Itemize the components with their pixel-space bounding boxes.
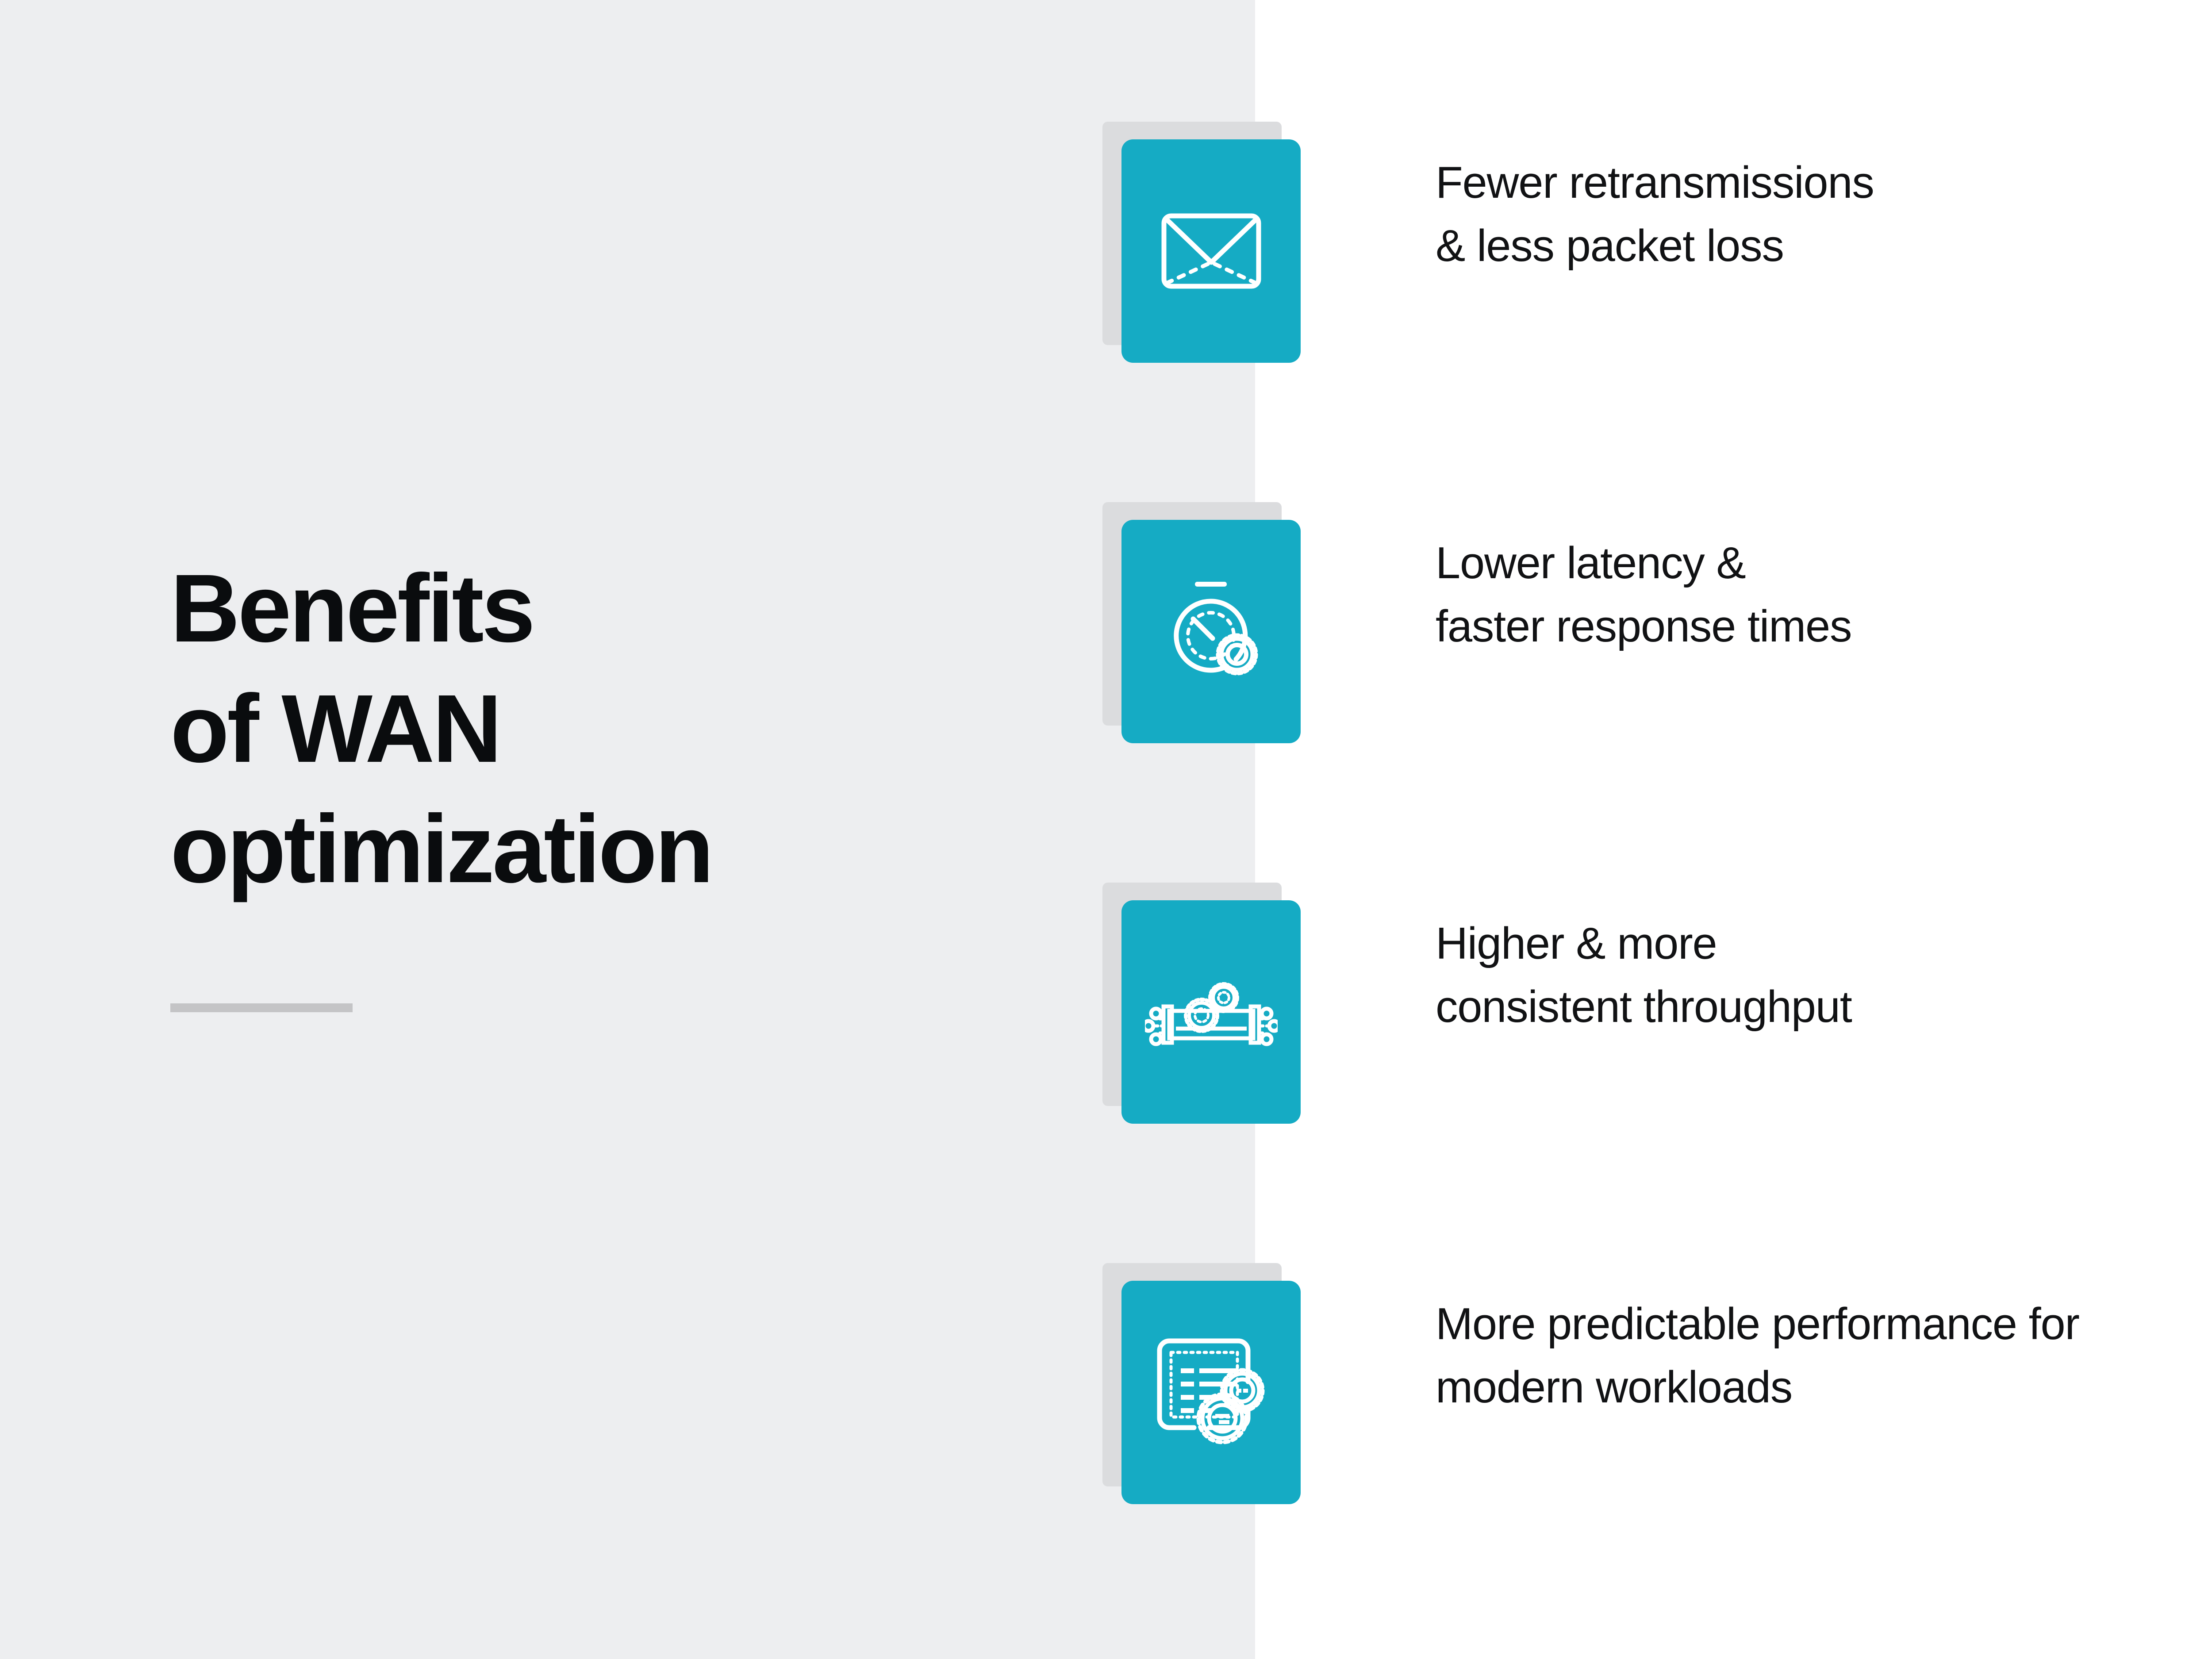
benefit-icon-tile[interactable] (1121, 520, 1301, 743)
benefit-label-line-1: More predictable performance for (1436, 1299, 2079, 1349)
slide-canvas: Benefits of WAN optimization Fewer retra… (0, 0, 2212, 1659)
benefit-label-line-1: Lower latency & (1436, 538, 1746, 588)
benefit-label-line-1: Fewer retransmissions (1436, 158, 1874, 207)
envelope-icon (1160, 212, 1262, 290)
benefit-label: Lower latency & faster response times (1436, 532, 2212, 658)
benefit-label-line-2: faster response times (1436, 595, 2212, 658)
benefit-icon-tile[interactable] (1121, 1281, 1301, 1504)
benefit-row: Lower latency & faster response times (0, 513, 2212, 743)
title-line-3: optimization (170, 789, 1099, 910)
benefit-label-line-2: & less packet loss (1436, 215, 2212, 278)
benefit-label-line-2: consistent throughput (1436, 975, 2212, 1039)
benefit-row: More predictable performance for modern … (0, 1274, 2212, 1504)
benefit-label-line-1: Higher & more (1436, 919, 1717, 968)
benefit-label: Fewer retransmissions & less packet loss (1436, 151, 2212, 278)
benefit-label-line-2: modern workloads (1436, 1356, 2212, 1419)
benefit-label: More predictable performance for modern … (1436, 1293, 2212, 1419)
stopwatch-gear-icon (1156, 576, 1267, 687)
benefit-label: Higher & more consistent throughput (1436, 912, 2212, 1039)
benefit-icon-tile[interactable] (1121, 139, 1301, 363)
document-gears-icon (1152, 1333, 1271, 1452)
benefit-row: Higher & more consistent throughput (0, 894, 2212, 1124)
pipe-throughput-gears-icon (1145, 961, 1278, 1063)
benefit-row: Fewer retransmissions & less packet loss (0, 133, 2212, 363)
benefit-icon-tile[interactable] (1121, 900, 1301, 1124)
